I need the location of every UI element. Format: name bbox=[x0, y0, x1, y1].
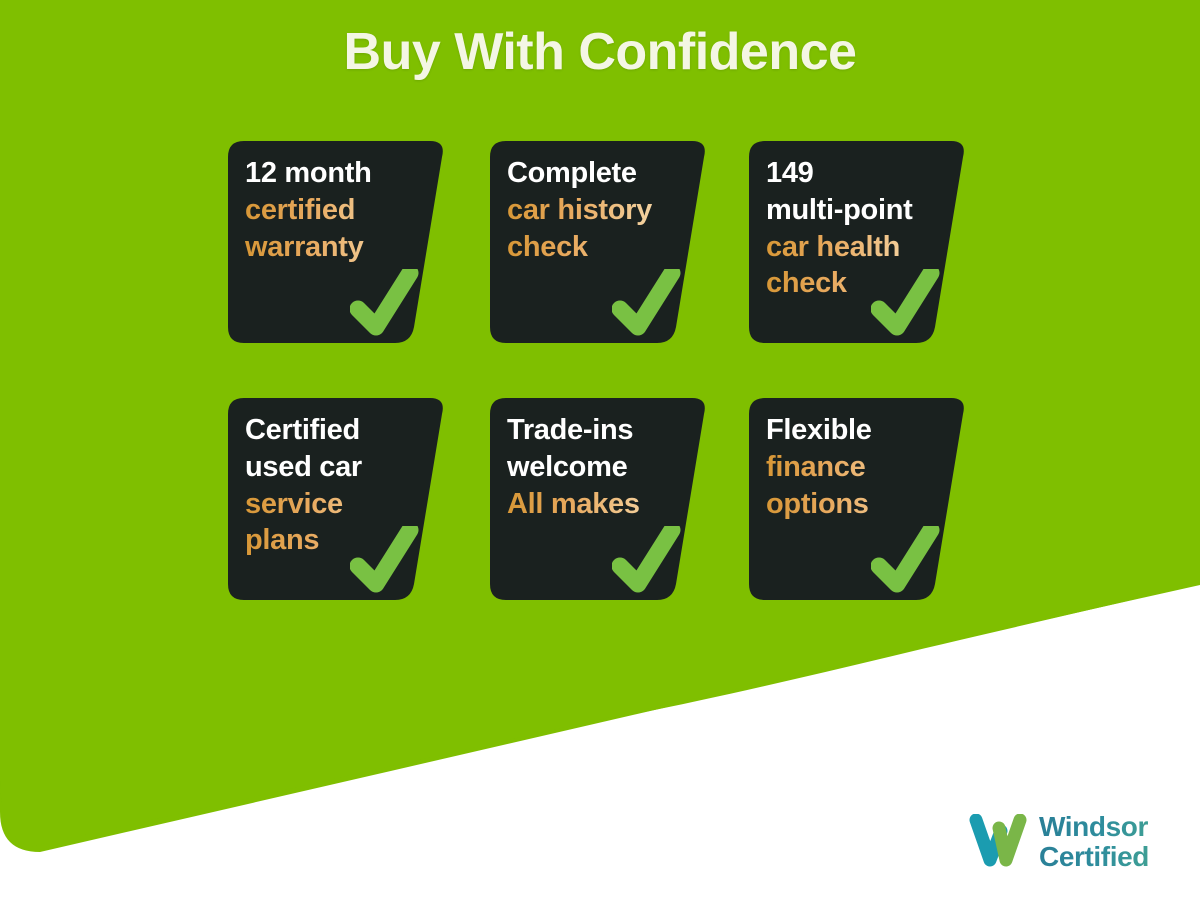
benefit-card-grid: 12 month certified warranty Complete car… bbox=[228, 141, 988, 655]
benefit-card-service-plans: Certified used car service plans bbox=[228, 398, 446, 600]
card-background-shape bbox=[749, 398, 967, 600]
card-background-shape bbox=[749, 141, 967, 343]
windsor-certified-logo: Windsor Certified bbox=[968, 812, 1149, 872]
page-title: Buy With Confidence bbox=[0, 22, 1200, 82]
logo-line-windsor: Windsor bbox=[1039, 812, 1149, 842]
logo-line-certified: Certified bbox=[1039, 842, 1149, 872]
card-row-bottom: Certified used car service plans Trade-i… bbox=[228, 398, 988, 655]
card-background-shape bbox=[490, 141, 708, 343]
logo-wordmark: Windsor Certified bbox=[1039, 812, 1149, 872]
card-background-shape bbox=[228, 141, 446, 343]
benefit-card-car-history-check: Complete car history check bbox=[490, 141, 708, 343]
card-row-top: 12 month certified warranty Complete car… bbox=[228, 141, 988, 398]
promo-graphic: Buy With Confidence 12 month certified w… bbox=[0, 0, 1200, 900]
benefit-card-finance-options: Flexible finance options bbox=[749, 398, 967, 600]
windsor-w-logo-icon bbox=[968, 814, 1030, 870]
benefit-card-car-health-check: 149 multi-point car health check bbox=[749, 141, 967, 343]
benefit-card-trade-ins: Trade-ins welcome All makes bbox=[490, 398, 708, 600]
benefit-card-certified-warranty: 12 month certified warranty bbox=[228, 141, 446, 343]
card-background-shape bbox=[490, 398, 708, 600]
card-background-shape bbox=[228, 398, 446, 600]
